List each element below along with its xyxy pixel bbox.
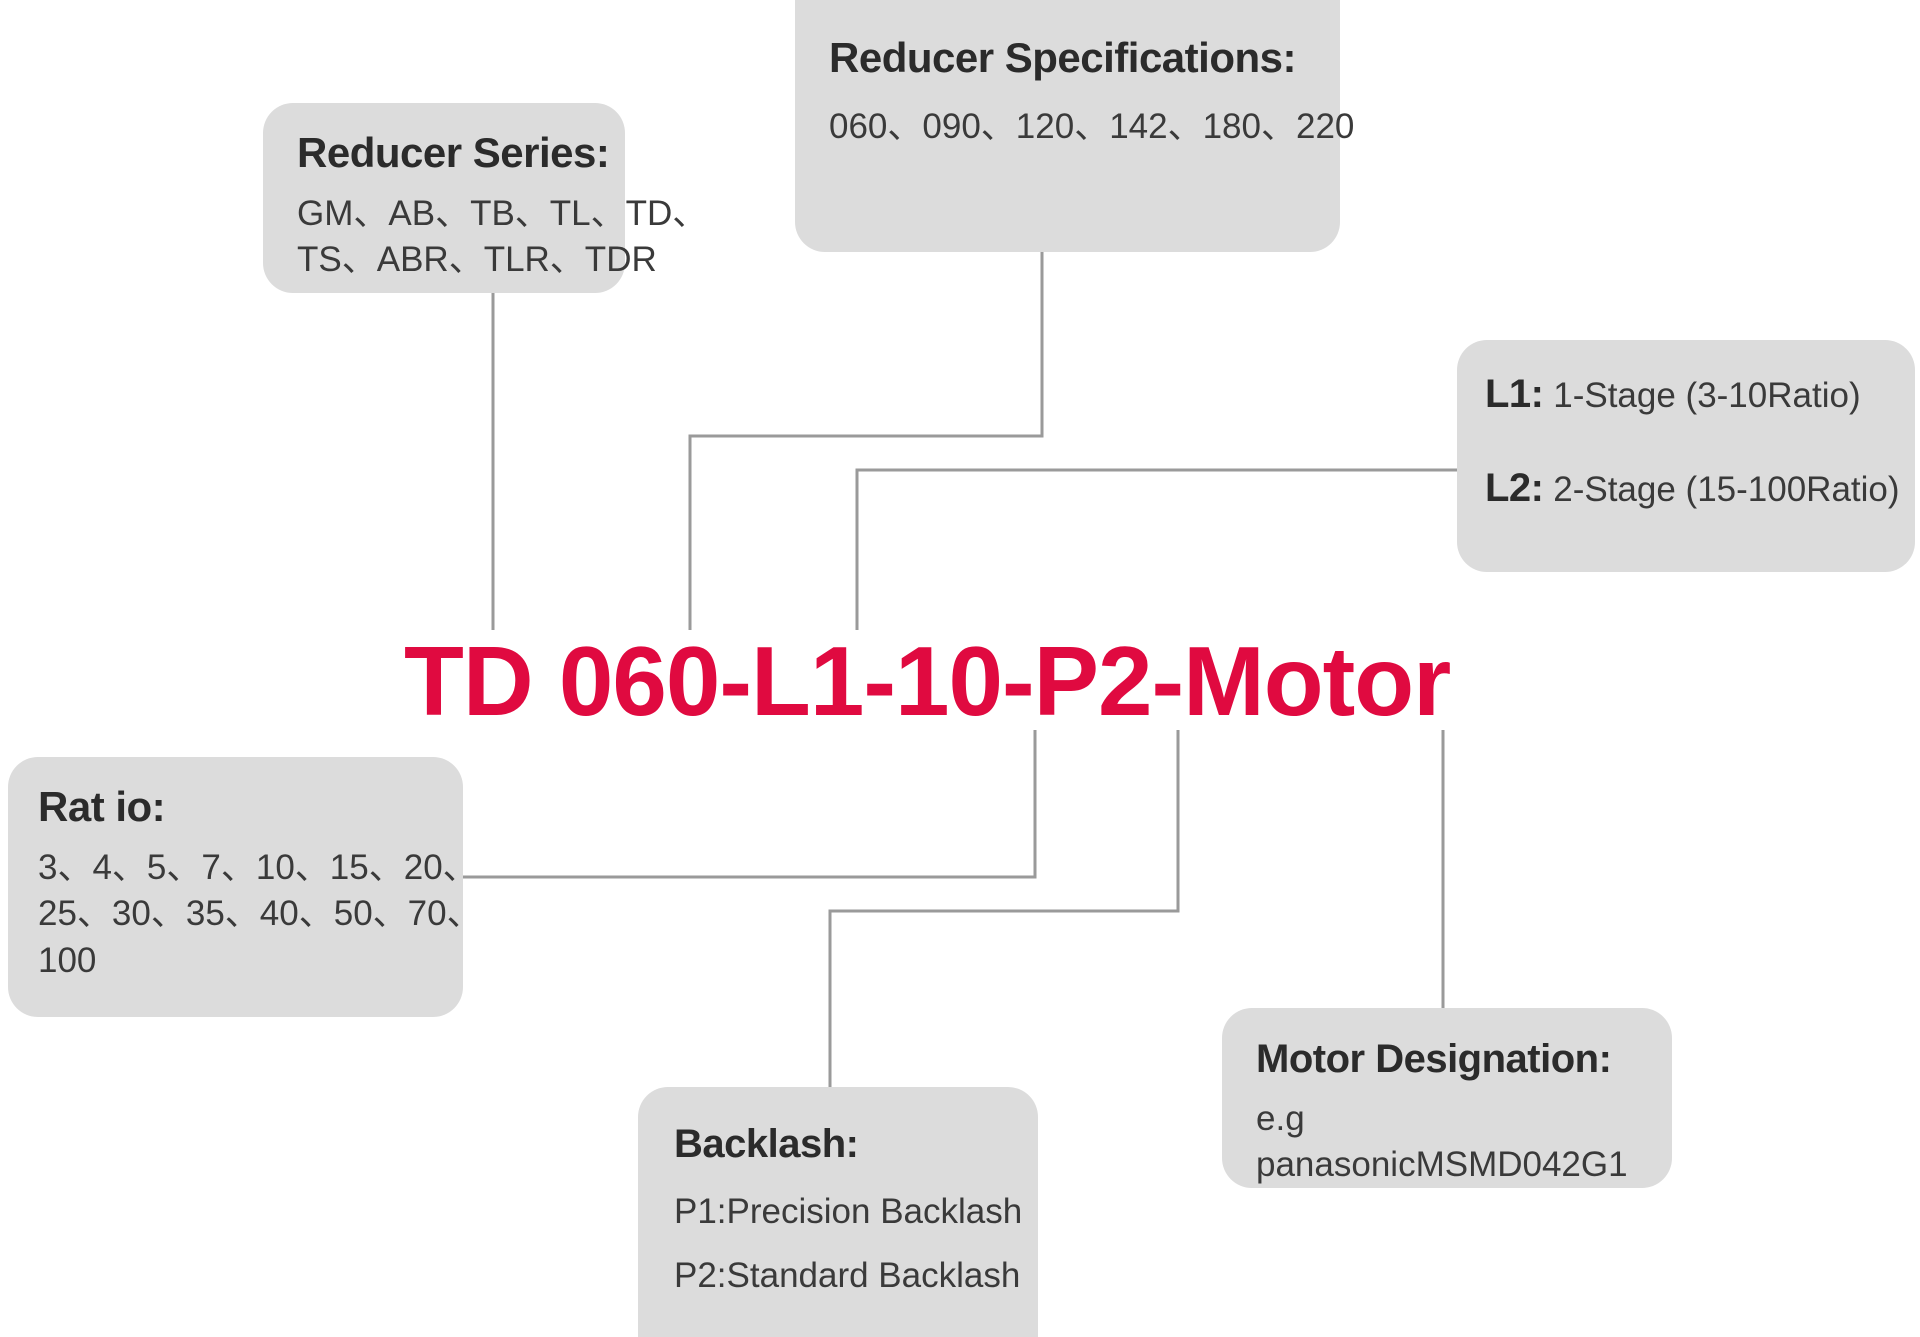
backlash-line-1: P1:Precision Backlash: [674, 1189, 1002, 1235]
motor-line-1: e.g: [1256, 1096, 1638, 1142]
reducer-series-line-2: TS、ABR、TLR、TDR: [297, 237, 591, 283]
ratio-values: 3、4、5、7、10、15、20、 25、30、35、40、50、70、 100: [38, 845, 433, 984]
connector-ratio: [463, 730, 1035, 877]
ratio-title: Rat io:: [38, 783, 433, 831]
stage-l1-label: L1:: [1485, 372, 1544, 416]
motor-line-2: panasonicMSMD042G1: [1256, 1142, 1638, 1188]
product-code: TD 060-L1-10-P2-Motor: [404, 632, 1450, 730]
reducer-series-line-1: GM、AB、TB、TL、TD、: [297, 191, 591, 237]
stage-l1-description: 1-Stage (3-10Ratio): [1544, 376, 1861, 415]
reducer-spec-values: 060、090、120、142、180、220: [829, 104, 1306, 150]
callout-ratio: Rat io: 3、4、5、7、10、15、20、 25、30、35、40、50…: [8, 757, 463, 1017]
stage-l2-label: L2:: [1485, 466, 1544, 510]
callout-stage-options: L1: 1-Stage (3-10Ratio) L2: 2-Stage (15-…: [1457, 340, 1915, 572]
reducer-series-values: GM、AB、TB、TL、TD、 TS、ABR、TLR、TDR: [297, 191, 591, 283]
callout-motor-designation: Motor Designation: e.g panasonicMSMD042G…: [1222, 1008, 1672, 1188]
reducer-spec-line-1: 060、090、120、142、180、220: [829, 104, 1306, 150]
stage-row-l2: L2: 2-Stage (15-100Ratio): [1485, 464, 1887, 512]
callout-reducer-series: Reducer Series: GM、AB、TB、TL、TD、 TS、ABR、T…: [263, 103, 625, 293]
callout-reducer-specifications: Reducer Specifications: 060、090、120、142、…: [795, 0, 1340, 252]
ratio-line-2: 25、30、35、40、50、70、: [38, 891, 433, 937]
backlash-line-2: P2:Standard Backlash: [674, 1253, 1002, 1299]
connector-backlash: [830, 730, 1178, 1087]
backlash-values: P1:Precision Backlash P2:Standard Backla…: [674, 1189, 1002, 1299]
connector-reducer-spec: [690, 252, 1042, 630]
reducer-series-title: Reducer Series:: [297, 129, 591, 177]
motor-title: Motor Designation:: [1256, 1036, 1638, 1082]
stage-row-l1: L1: 1-Stage (3-10Ratio): [1485, 370, 1887, 418]
backlash-title: Backlash:: [674, 1121, 1002, 1167]
reducer-spec-title: Reducer Specifications:: [829, 34, 1306, 82]
callout-backlash: Backlash: P1:Precision Backlash P2:Stand…: [638, 1087, 1038, 1337]
ratio-line-3: 100: [38, 938, 433, 984]
ratio-line-1: 3、4、5、7、10、15、20、: [38, 845, 433, 891]
connector-stages: [857, 470, 1457, 630]
stage-l2-description: 2-Stage (15-100Ratio): [1544, 470, 1900, 509]
motor-values: e.g panasonicMSMD042G1: [1256, 1096, 1638, 1188]
naming-convention-diagram: Reducer Series: GM、AB、TB、TL、TD、 TS、ABR、T…: [0, 0, 1920, 1337]
